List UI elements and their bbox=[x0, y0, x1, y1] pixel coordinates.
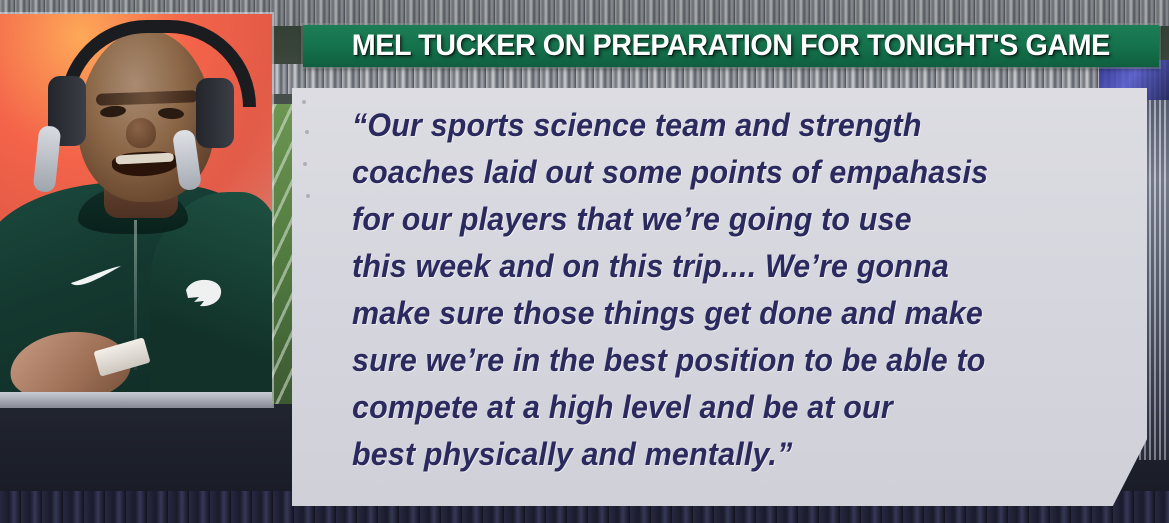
quote-line-2: coaches laid out some points of empahasi… bbox=[352, 149, 1083, 196]
coach-photo-frame bbox=[0, 14, 272, 406]
photo-baseline bbox=[0, 392, 272, 406]
panel-specks bbox=[300, 96, 318, 206]
quote-line-8: best physically and mentally.” bbox=[352, 431, 1083, 478]
quote-text-block: “Our sports science team and strength co… bbox=[352, 102, 1121, 478]
spartan-helmet-icon bbox=[182, 276, 224, 312]
quote-line-6: sure we’re in the best position to be ab… bbox=[352, 337, 1083, 384]
broadcast-screenshot: MEL TUCKER ON PREPARATION FOR TONIGHT'S … bbox=[0, 0, 1169, 523]
coach-photo bbox=[0, 14, 272, 406]
coach-nose bbox=[126, 118, 156, 148]
quote-line-5: make sure those things get done and make bbox=[352, 290, 1083, 337]
quote-line-7: compete at a high level and be at our bbox=[352, 384, 1083, 431]
headline-banner-text: MEL TUCKER ON PREPARATION FOR TONIGHT'S … bbox=[352, 29, 1110, 63]
headline-banner: MEL TUCKER ON PREPARATION FOR TONIGHT'S … bbox=[303, 25, 1159, 67]
headset-earcup-right bbox=[196, 78, 234, 148]
nike-swoosh-icon bbox=[70, 266, 122, 286]
quote-line-3: for our players that we’re going to use bbox=[352, 196, 1083, 243]
quote-line-1: “Our sports science team and strength bbox=[352, 102, 1083, 149]
quote-panel: “Our sports science team and strength co… bbox=[292, 88, 1147, 506]
quote-line-4: this week and on this trip.... We’re gon… bbox=[352, 243, 1083, 290]
